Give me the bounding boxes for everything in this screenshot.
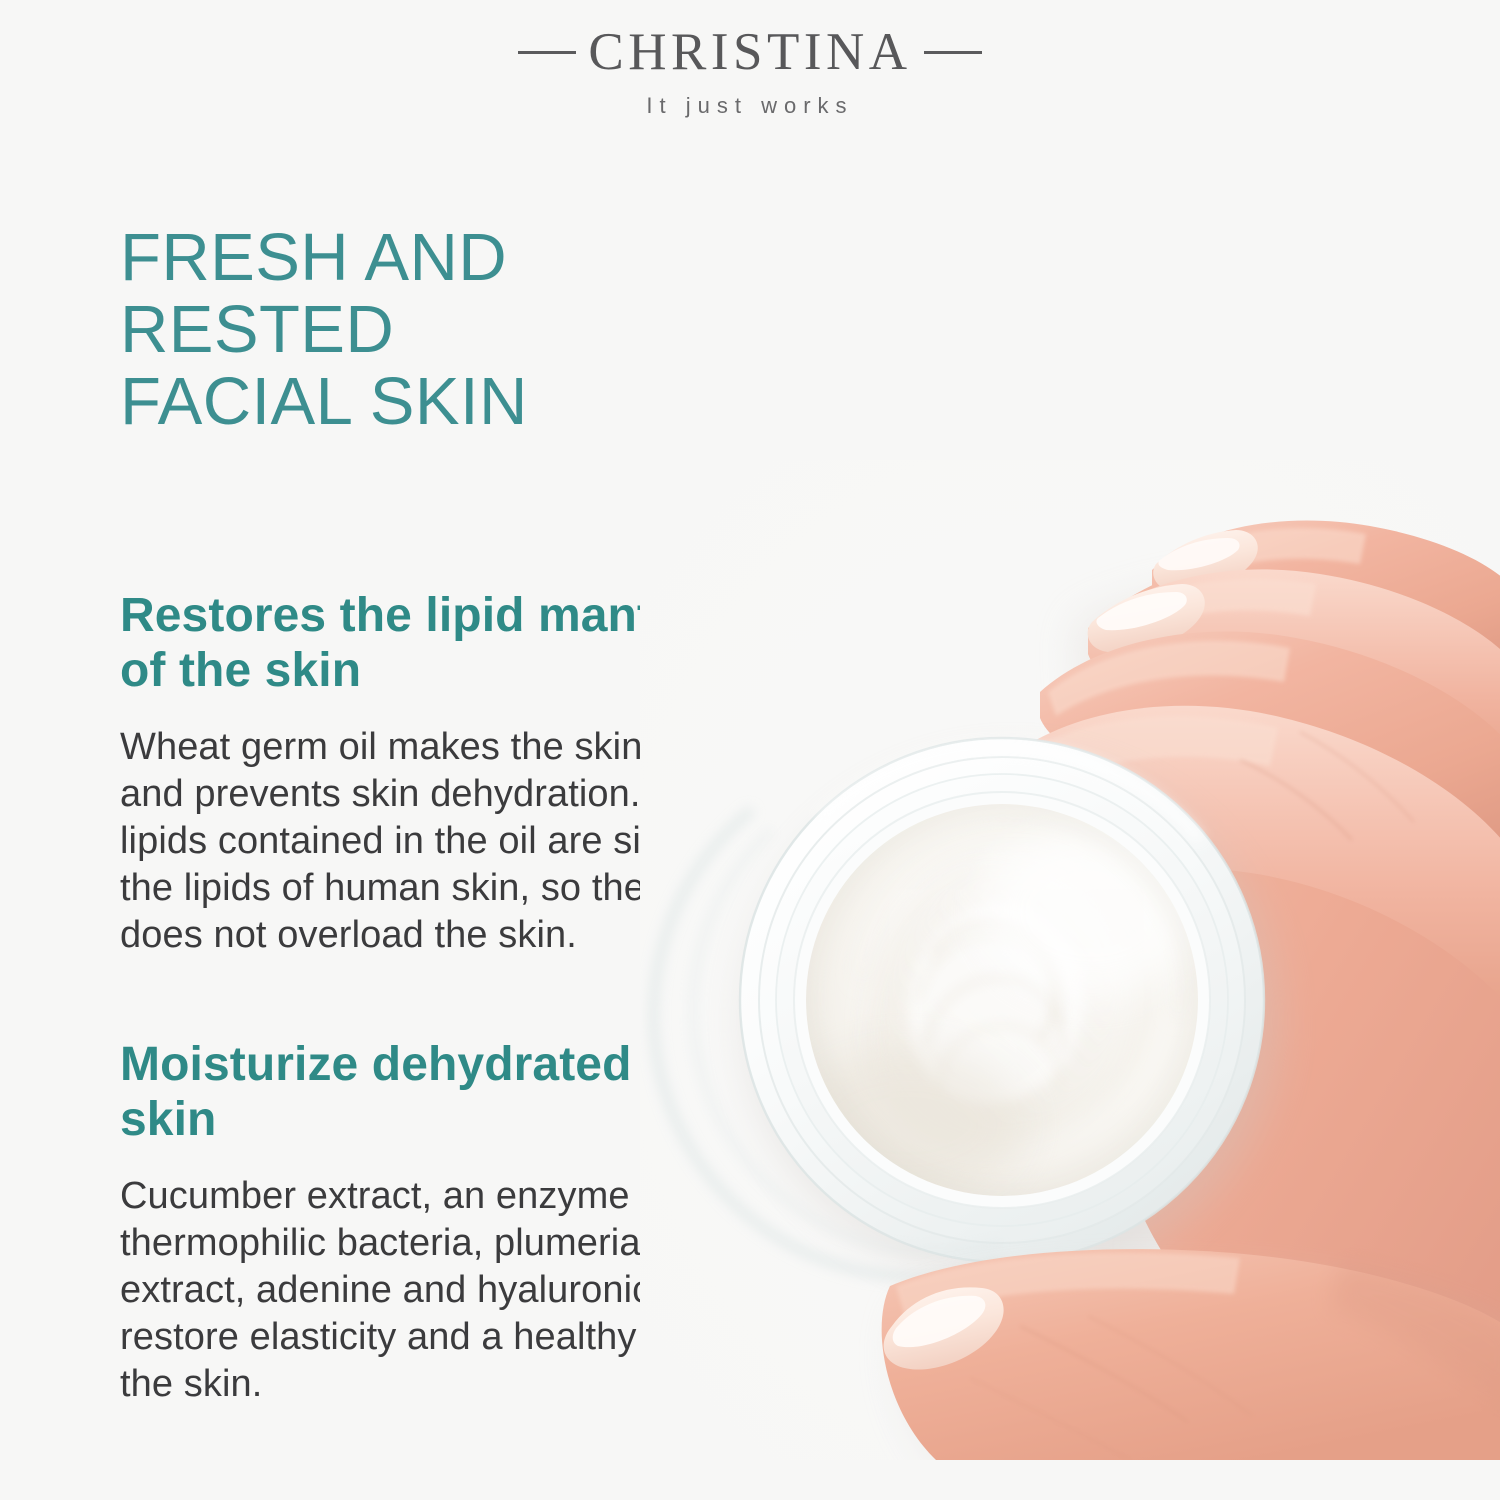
logo-left-rule-icon (518, 51, 576, 54)
hand-thumb (882, 1249, 1500, 1460)
page-title: FRESH AND RESTED FACIAL SKIN (120, 222, 780, 438)
product-photo-hand-with-cream-jar (640, 460, 1500, 1460)
brand-name: CHRISTINA (588, 26, 911, 79)
brand-logo: CHRISTINA It just works (0, 26, 1500, 117)
brand-wordmark: CHRISTINA (0, 26, 1500, 79)
brand-tagline: It just works (0, 95, 1500, 117)
logo-right-rule-icon (924, 51, 982, 54)
marketing-slide: CHRISTINA It just works FRESH AND RESTED… (0, 0, 1500, 1500)
